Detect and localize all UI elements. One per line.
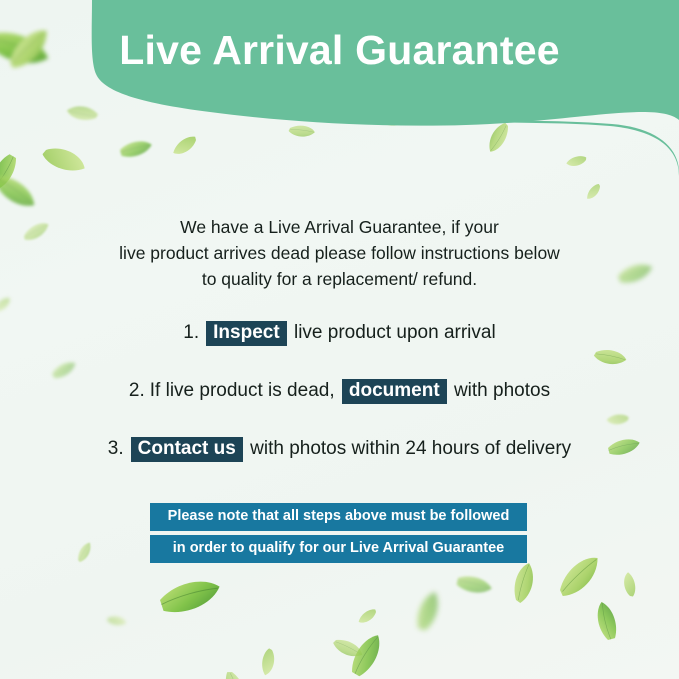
step-highlight-document: document [342, 379, 447, 404]
steps-list: 1.Inspect live product upon arrival 2.If… [0, 321, 679, 495]
step-number-1: 1. [183, 322, 199, 343]
step-text-1: live product upon arrival [294, 322, 496, 343]
intro-line-2: live product arrives dead please follow … [60, 240, 619, 266]
step-number-2: 2. [129, 380, 145, 401]
footer-notes: Please note that all steps above must be… [150, 503, 527, 563]
step-text-2-before: If live product is dead, [150, 380, 335, 401]
note-box-line-1: Please note that all steps above must be… [150, 503, 527, 531]
step-text-2-after: with photos [454, 380, 550, 401]
step-number-3: 3. [108, 438, 124, 459]
intro-line-3: to quality for a replacement/ refund. [60, 266, 619, 292]
step-item-2: 2.If live product is dead, document with… [0, 379, 679, 404]
live-arrival-guarantee-poster: Live Arrival Guarantee We have a Live Ar… [0, 0, 679, 679]
step-item-3: 3.Contact us with photos within 24 hours… [0, 437, 679, 462]
step-item-1: 1.Inspect live product upon arrival [0, 321, 679, 346]
poster-content: We have a Live Arrival Guarantee, if you… [0, 0, 679, 679]
intro-paragraph: We have a Live Arrival Guarantee, if you… [60, 214, 619, 292]
step-text-3: with photos within 24 hours of delivery [250, 438, 571, 459]
note-box-line-2: in order to qualify for our Live Arrival… [150, 535, 527, 563]
step-highlight-inspect: Inspect [206, 321, 287, 346]
step-highlight-contact-us: Contact us [131, 437, 243, 462]
intro-line-1: We have a Live Arrival Guarantee, if you… [60, 214, 619, 240]
